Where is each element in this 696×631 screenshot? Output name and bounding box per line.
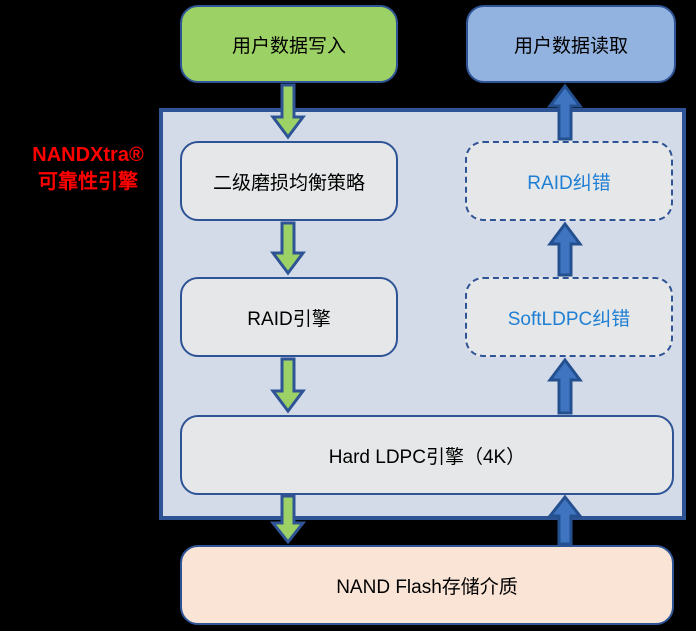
node-wear-leveling-policy[interactable]: 二级磨损均衡策略 [180, 141, 398, 221]
node-hard-ldpc-engine-label: Hard LDPC引擎（4K） [329, 442, 525, 469]
node-raid-ecc[interactable]: RAID纠错 [465, 141, 673, 221]
node-soft-ldpc-ecc[interactable]: SoftLDPC纠错 [465, 277, 673, 357]
arrow-hard-ldpc-to-soft-ldpc [547, 357, 583, 415]
arrow-soft-ldpc-to-raid-ecc [547, 221, 583, 277]
arrow-hard-ldpc-to-nand-flash [270, 495, 306, 545]
node-soft-ldpc-ecc-label: SoftLDPC纠错 [508, 304, 630, 331]
node-raid-engine[interactable]: RAID引擎 [180, 277, 398, 357]
node-raid-ecc-label: RAID纠错 [527, 168, 610, 195]
node-nand-flash-media-label: NAND Flash存储介质 [336, 572, 518, 599]
node-user-data-write[interactable]: 用户数据写入 [180, 5, 398, 83]
arrow-nand-flash-to-hard-ldpc [547, 495, 583, 545]
node-user-data-write-label: 用户数据写入 [232, 31, 346, 58]
brand-label-line1: NANDXtra® [32, 144, 143, 166]
brand-label-line2: 可靠性引擎 [8, 169, 168, 196]
node-raid-engine-label: RAID引擎 [247, 304, 330, 331]
node-user-data-read-label: 用户数据读取 [514, 31, 628, 58]
arrow-wear-level-to-raid-engine [270, 221, 306, 277]
node-wear-leveling-policy-label: 二级磨损均衡策略 [213, 168, 365, 195]
arrow-write-input-to-wear-level [270, 83, 306, 141]
node-user-data-read[interactable]: 用户数据读取 [466, 5, 676, 83]
node-hard-ldpc-engine[interactable]: Hard LDPC引擎（4K） [180, 415, 674, 495]
diagram-canvas: NANDXtra® 可靠性引擎 [0, 0, 696, 631]
arrow-raid-engine-to-hard-ldpc [270, 357, 306, 415]
node-nand-flash-media[interactable]: NAND Flash存储介质 [180, 545, 674, 625]
brand-label: NANDXtra® 可靠性引擎 [8, 142, 168, 196]
arrow-raid-ecc-to-read-output [547, 83, 583, 141]
